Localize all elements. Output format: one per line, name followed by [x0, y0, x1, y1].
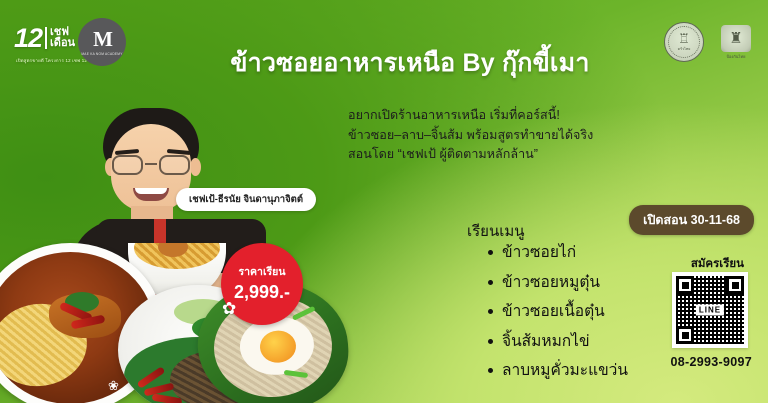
- promo-poster: 12 เชฟ เดือน เปิดสูตรขายดี โครงการ 12 เช…: [0, 0, 768, 403]
- line-logo-icon: LINE: [696, 305, 724, 316]
- partner-seal-one: ♖ ครัวไทย: [662, 20, 706, 64]
- list-item: จิ้นส้มหมกไข่: [488, 334, 628, 350]
- partner-seals: ♖ ครัวไทย ♜ ป้องกันไทย: [662, 20, 758, 64]
- contact-phone-number[interactable]: 08-2993-9097: [671, 355, 752, 369]
- line-qr-code[interactable]: LINE: [672, 272, 748, 348]
- glasses-bridge: [145, 163, 157, 165]
- monogram-letter: M: [93, 29, 111, 50]
- menu-list: ข้าวซอยไก่ ข้าวซอยหมูตุ๋น ข้าวซอยเนื้อตุ…: [488, 245, 628, 393]
- brand-12-chefs-logo: 12 เชฟ เดือน เปิดสูตรขายดี โครงการ 12 เช…: [14, 26, 75, 50]
- chef-ear-right: [190, 158, 201, 176]
- seal-circle-icon: ♖ ครัวไทย: [664, 22, 704, 62]
- qr-finder-top-left: [676, 276, 694, 294]
- brand-12-line2: เดือน: [45, 38, 75, 49]
- bullet-icon: [488, 368, 493, 373]
- flower-decor-icon: ✿: [222, 300, 244, 320]
- qr-finder-top-right: [726, 276, 744, 294]
- menu-item-label: ข้าวซอยเนื้อตุ๋น: [502, 304, 605, 320]
- glasses-lens-left: [112, 155, 143, 175]
- chef-name-badge: เชฟเป้-ธีรนัย จินดานุภาจิตต์: [176, 188, 316, 211]
- menu-item-label: ข้าวซอยหมูตุ๋น: [502, 275, 600, 291]
- glasses-lens-right: [159, 155, 190, 175]
- page-title: ข้าวซอยอาหารเหนือ By กุ๊กขี้เมา: [200, 49, 620, 78]
- flower-decor-icon-2: ❀: [108, 378, 126, 394]
- list-item: ข้าวซอยเนื้อตุ๋น: [488, 304, 628, 320]
- seal-two-caption: ป้องกันไทย: [726, 53, 745, 60]
- status-badge: เปิดสอน 30-11-68: [629, 205, 754, 235]
- list-item: ลาบหมูคั่วมะแขว่น: [488, 363, 628, 379]
- subtitle-line-1: อยากเปิดร้านอาหารเหนือ เริ่มที่คอร์สนี้!: [348, 106, 648, 126]
- academy-monogram-logo: M MAE KA NOM ACADEMY: [78, 18, 126, 66]
- subtitle-block: อยากเปิดร้านอาหารเหนือ เริ่มที่คอร์สนี้!…: [348, 106, 648, 165]
- menu-item-label: จิ้นส้มหมกไข่: [502, 334, 590, 350]
- seal-crest-icon: ♖: [678, 32, 690, 45]
- menu-heading: เรียนเมนู: [467, 219, 525, 243]
- seal-emblem-wrap: ♜ ป้องกันไทย: [716, 22, 756, 62]
- brand-12-stack: เชฟ เดือน: [45, 26, 75, 49]
- list-item: ข้าวซอยไก่: [488, 245, 628, 261]
- menu-item-label: ลาบหมูคั่วมะแขว่น: [502, 363, 628, 379]
- bullet-icon: [488, 309, 493, 314]
- list-item: ข้าวซอยหมูตุ๋น: [488, 275, 628, 291]
- qr-finder-bottom-left: [676, 326, 694, 344]
- register-label: สมัครเรียน: [691, 255, 744, 273]
- subtitle-line-2: ข้าวซอย–ลาบ–จิ้นส้ม พร้อมสูตรทำขายได้จริ…: [348, 126, 648, 146]
- bullet-icon: [488, 250, 493, 255]
- subtitle-line-3: สอนโดย “เชฟเป้ ผู้ติดตามหลักล้าน”: [348, 145, 648, 165]
- chef-glasses: [111, 155, 191, 175]
- qr-pattern: LINE: [676, 276, 744, 344]
- partner-seal-two: ♜ ป้องกันไทย: [714, 20, 758, 64]
- menu-item-label: ข้าวซอยไก่: [502, 245, 576, 261]
- bullet-icon: [488, 339, 493, 344]
- seal-statue-icon: ♜: [721, 25, 751, 52]
- seal-caption: ครัวไทย: [678, 46, 691, 52]
- price-label: ราคาเรียน: [238, 267, 285, 278]
- monogram-subtitle: MAE KA NOM ACADEMY: [81, 52, 122, 56]
- price-amount: 2,999.-: [234, 283, 290, 301]
- bullet-icon: [488, 280, 493, 285]
- brand-12-number: 12: [14, 26, 42, 50]
